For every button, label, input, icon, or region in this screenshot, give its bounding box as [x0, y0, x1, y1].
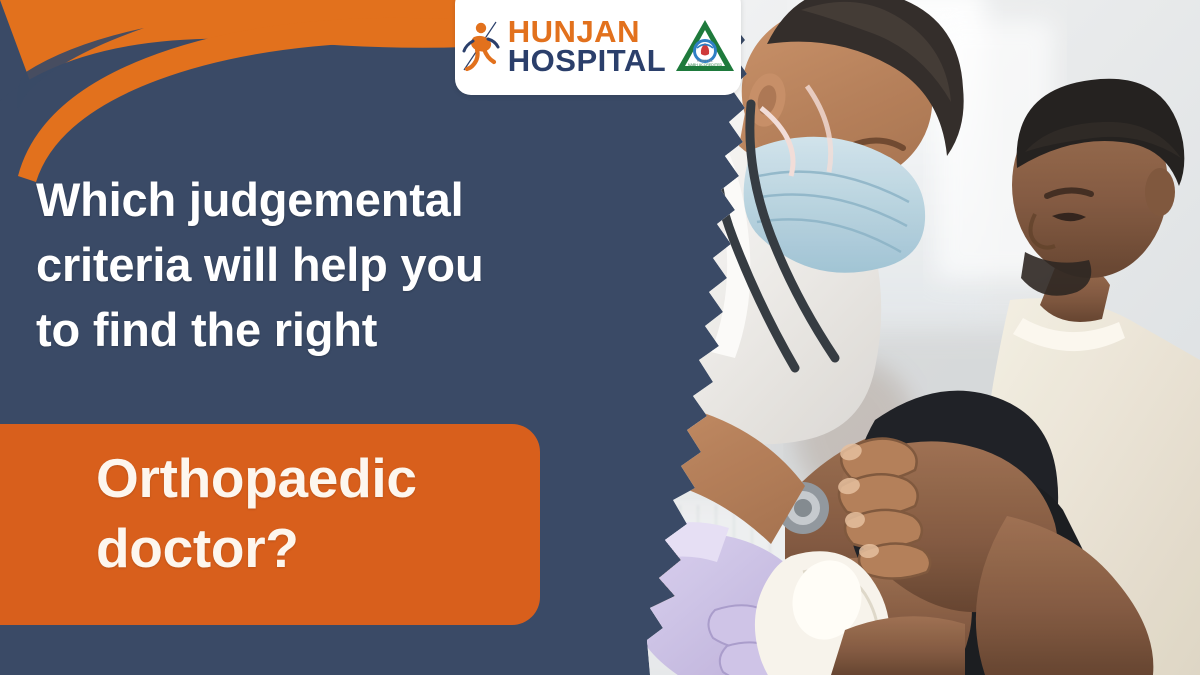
headline-line-2: criteria will help you [36, 233, 596, 298]
marketing-banner: Which judgemental criteria will help you… [0, 0, 1200, 675]
highlight-line-1: Orthopaedic [96, 443, 556, 513]
running-person-icon [460, 20, 502, 72]
clinic-photo [555, 0, 1200, 675]
nabh-accreditation-triangle-icon: NABH ACCREDITED HOSPITAL [674, 18, 736, 74]
nabh-label: NABH ACCREDITED [688, 63, 723, 67]
headline-line-1: Which judgemental [36, 168, 596, 233]
hospital-name-line1: HUNJAN [508, 17, 666, 46]
hospital-logo-card[interactable]: HUNJAN HOSPITAL NABH ACCREDITED HOSPITAL [455, 0, 741, 95]
page-title: Which judgemental criteria will help you… [36, 168, 596, 363]
highlight-line-2: doctor? [96, 513, 556, 583]
headline-line-3: to find the right [36, 298, 596, 363]
highlight-text: Orthopaedic doctor? [96, 443, 556, 584]
svg-text:HOSPITAL: HOSPITAL [697, 59, 714, 63]
hospital-name: HUNJAN HOSPITAL [508, 17, 666, 75]
hospital-name-line2: HOSPITAL [508, 46, 666, 75]
